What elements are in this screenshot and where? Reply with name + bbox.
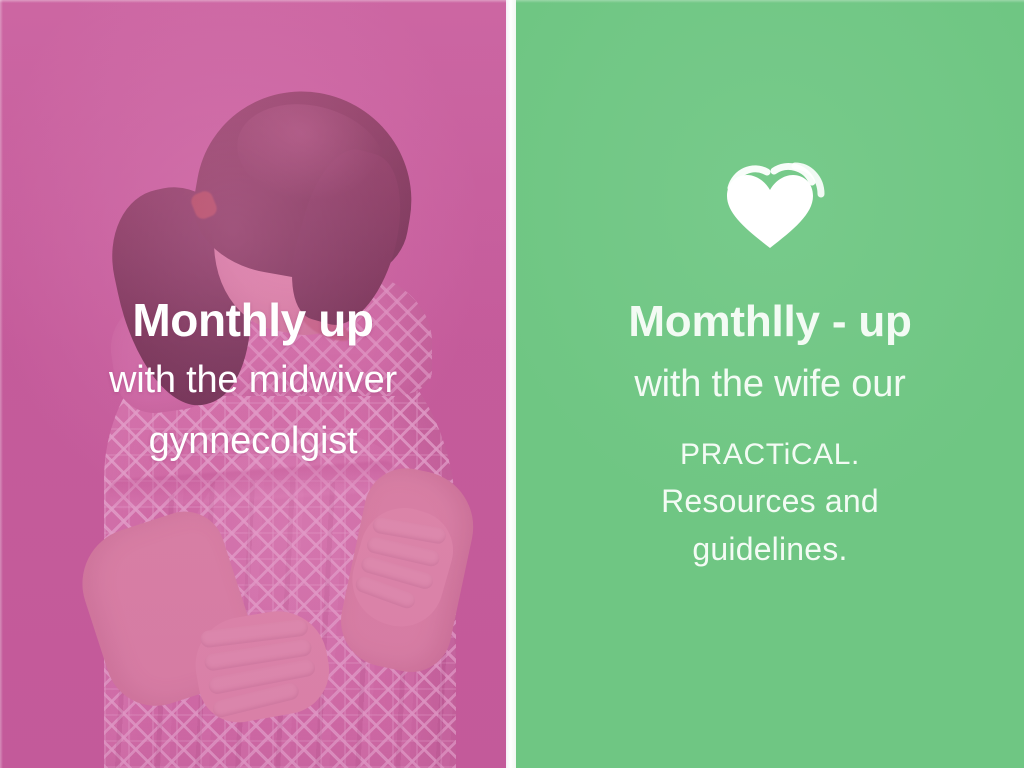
right-headline: Momthlly - up	[516, 298, 1024, 346]
right-green-panel: Momthlly - up with the wife our PRACTiCA…	[516, 0, 1024, 768]
right-top-edge-highlight	[516, 0, 1024, 3]
panel-divider	[506, 0, 516, 768]
right-subline-4: guidelines.	[516, 532, 1024, 568]
left-subline-1: with the midwiver	[0, 360, 506, 402]
left-subline-2: gynnecolgist	[0, 421, 506, 463]
right-subline-2: PRACTiCAL.	[516, 438, 1024, 472]
right-subline-3: Resources and	[516, 484, 1024, 520]
left-text-block: Monthly up with the midwiver gynnecolgis…	[0, 296, 506, 463]
heart-with-pulse-arcs-icon	[711, 160, 829, 252]
right-subline-1: with the wife our	[516, 364, 1024, 406]
left-pink-panel: Monthly up with the midwiver gynnecolgis…	[0, 0, 506, 768]
right-text-block: Momthlly - up with the wife our PRACTiCA…	[516, 298, 1024, 567]
left-headline: Monthly up	[0, 296, 506, 346]
banner-canvas: Monthly up with the midwiver gynnecolgis…	[0, 0, 1024, 768]
